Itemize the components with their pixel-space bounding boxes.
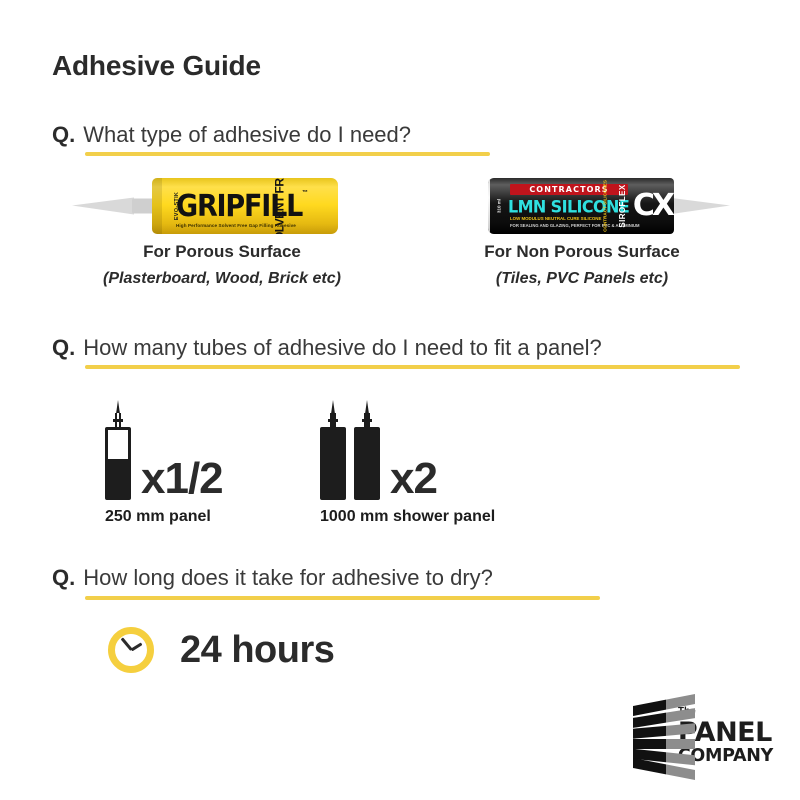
caption-non-porous-sub: (Tiles, PVC Panels etc) [412, 270, 752, 288]
page-title: Adhesive Guide [52, 50, 261, 82]
question-2-text: How many tubes of adhesive do I need to … [83, 335, 602, 361]
quantity-1000mm-caption: 1000 mm shower panel [320, 508, 495, 526]
quantity-250mm-multiplier: x1/2 [141, 458, 223, 500]
quantity-250mm: x1/2 250 mm panel [105, 400, 223, 526]
tube-icon-full [320, 400, 346, 500]
question-prefix: Q. [52, 565, 75, 591]
question-3-underline [85, 596, 600, 600]
clock-icon [108, 627, 154, 673]
lmn-cx-logo: CX [633, 191, 672, 221]
tube-icon-full [354, 400, 380, 500]
product-image-lmn-silicone: 310 ml CONTRACTORS LMN SILICONE LOW MODU… [462, 178, 730, 234]
gripfill-tube-body: EVO-STIK GRIPFILL ™ SOLVENT FREE High Pe… [152, 178, 338, 234]
question-2: Q. How many tubes of adhesive do I need … [52, 335, 602, 361]
quantity-1000mm: x2 1000 mm shower panel [320, 400, 495, 526]
lmn-volume-text: 310 ml [497, 199, 502, 213]
lmn-tube-body: 310 ml CONTRACTORS LMN SILICONE LOW MODU… [488, 178, 674, 234]
question-2-underline [85, 365, 740, 369]
quantity-250mm-caption: 250 mm panel [105, 508, 223, 526]
lmn-brand: LMN SILICONE [508, 197, 629, 217]
question-1-text: What type of adhesive do I need? [83, 122, 411, 148]
question-3-text: How long does it take for adhesive to dr… [83, 565, 493, 591]
drying-time-row: 24 hours [108, 627, 334, 673]
drying-time-value: 24 hours [180, 629, 334, 672]
gripfill-trademark: ™ [302, 190, 308, 196]
question-3: Q. How long does it take for adhesive to… [52, 565, 493, 591]
question-1: Q. What type of adhesive do I need? [52, 122, 411, 148]
lmn-contractors-banner: CONTRACTORS [510, 184, 628, 195]
lmn-contractors-label: CONTRACTORS [529, 185, 608, 194]
lmn-strapline-1: LOW MODULUS NEUTRAL CURE SILICONE [510, 216, 601, 221]
nozzle-icon [72, 198, 158, 215]
question-prefix: Q. [52, 335, 75, 361]
caption-non-porous: For Non Porous Surface (Tiles, PVC Panel… [412, 242, 752, 288]
product-image-gripfill: EVO-STIK GRIPFILL ™ SOLVENT FREE High Pe… [72, 178, 340, 234]
caption-porous: For Porous Surface (Plasterboard, Wood, … [52, 242, 392, 288]
brand-logo: The PANEL COMPANY [633, 697, 773, 775]
panel-stack-icon [633, 698, 669, 774]
infographic-page: Adhesive Guide Q. What type of adhesive … [0, 0, 800, 800]
caption-porous-main: For Porous Surface [52, 242, 392, 262]
caption-non-porous-main: For Non Porous Surface [412, 242, 752, 262]
question-1-underline [85, 152, 490, 156]
gripfill-strapline: High Performance Solvent Free Gap Fillin… [176, 223, 296, 228]
lmn-side-brand: SIROFLEX [618, 184, 627, 227]
tube-icon-half [105, 400, 131, 500]
question-prefix: Q. [52, 122, 75, 148]
caption-porous-sub: (Plasterboard, Wood, Brick etc) [52, 270, 392, 288]
lmn-side-sub: CONTRACT SILICONES [603, 180, 608, 232]
quantity-1000mm-multiplier: x2 [390, 458, 437, 500]
